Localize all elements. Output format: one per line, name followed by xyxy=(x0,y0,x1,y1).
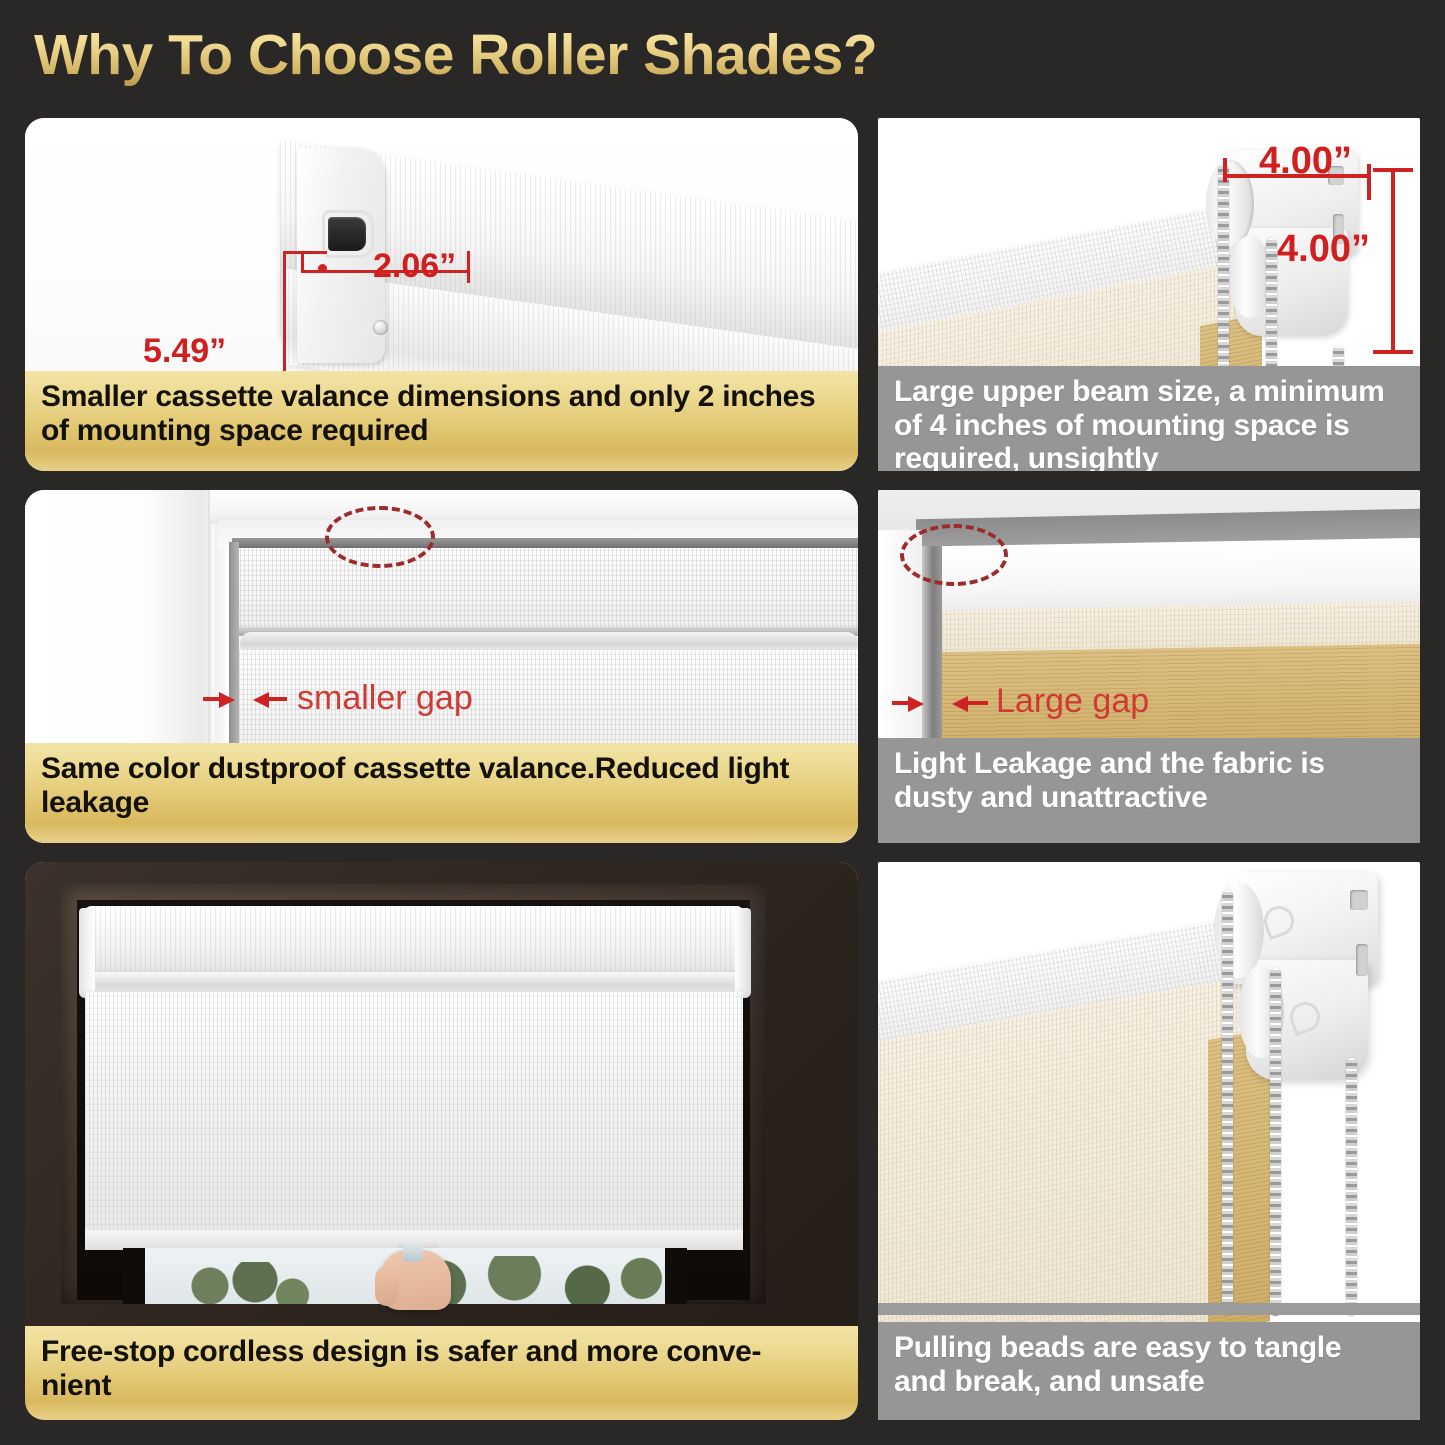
height-dimension-tick-top xyxy=(283,251,327,254)
infographic-page: Why To Choose Roller Shades? 2.06” xyxy=(0,0,1445,1445)
beam-width-tick-left xyxy=(1223,158,1227,182)
beam-width-label: 4.00” xyxy=(1259,140,1352,183)
cassette-end-left xyxy=(79,908,95,998)
cassette-end-right xyxy=(735,908,751,998)
beam-height-line xyxy=(1391,168,1395,354)
window-casing-edge xyxy=(208,490,214,765)
caption-text: Light Leakage and the fabric is dusty an… xyxy=(894,747,1406,814)
caption-text-line2: and break, and unsafe xyxy=(894,1365,1406,1399)
bead-chain-right xyxy=(1346,1058,1357,1316)
caption-free-stop-cordless: Free-stop cordless design is safer and m… xyxy=(25,1326,858,1420)
beam-width-tick-right xyxy=(1367,164,1371,200)
width-dimension-tick-left xyxy=(301,251,304,273)
gap-arrow-left-stem xyxy=(203,697,221,701)
shade-fabric-main xyxy=(85,992,743,1237)
caption-light-leakage: Light Leakage and the fabric is dusty an… xyxy=(878,738,1420,843)
window-casing-left xyxy=(25,490,225,765)
cassette-headrail xyxy=(85,906,743,978)
page-title: Why To Choose Roller Shades? xyxy=(34,22,877,88)
highlight-ellipse-top-gap xyxy=(325,506,435,568)
gap-arrow-left-stem xyxy=(892,701,910,705)
gap-arrow-right-stem xyxy=(968,701,988,705)
gap-arrow-right-stem xyxy=(269,697,287,701)
floor-strip xyxy=(878,1303,1420,1315)
bracket-slot-rim xyxy=(322,210,374,258)
caption-pulling-beads: Pulling beads are easy to tangle and bre… xyxy=(878,1322,1420,1420)
caption-dustproof-cassette-valance: Same color dustproof cassette valance.Re… xyxy=(25,743,858,843)
gap-arrow-left xyxy=(219,692,235,708)
large-gap-label: Large gap xyxy=(996,682,1149,721)
gap-arrow-right xyxy=(253,692,269,708)
bracket-slot-upper xyxy=(1350,890,1368,910)
beam-height-label: 4.00” xyxy=(1277,228,1370,271)
shade-fabric-upper xyxy=(232,548,858,631)
tree-foliage-left xyxy=(165,1262,315,1304)
panel-large-upper-beam: 4.00” 4.00” Large upper beam size, a min… xyxy=(878,118,1420,471)
bracket-slot-lower xyxy=(1356,944,1368,976)
caption-text-line2: nient xyxy=(41,1369,844,1403)
panel-pulling-beads: Pulling beads are easy to tangle and bre… xyxy=(878,862,1420,1420)
window-casing-top xyxy=(210,490,858,524)
width-dimension-label: 2.06” xyxy=(373,247,456,286)
caption-cassette-valance-dimensions: Smaller cassette valance dimensions and … xyxy=(25,371,858,471)
window-mullion-left xyxy=(123,1248,145,1304)
height-dimension-label: 5.49” xyxy=(143,332,226,371)
gap-arrow-left xyxy=(908,696,924,712)
hand-grip-tab xyxy=(403,1244,423,1262)
panel-free-stop-cordless: Free-stop cordless design is safer and m… xyxy=(25,862,858,1420)
panel-light-leakage: Large gap Light Leakage and the fabric i… xyxy=(878,490,1420,843)
width-dimension-tick-right xyxy=(467,251,470,283)
caption-large-upper-beam: Large upper beam size, a minimum of 4 in… xyxy=(878,366,1420,471)
screw-icon xyxy=(373,320,388,335)
caption-text-line1: Pulling beads are easy to tangle xyxy=(894,1331,1406,1365)
panel-cassette-valance-dimensions: 2.06” 5.49” Smaller cassette valance dim… xyxy=(25,118,858,471)
caption-text: Same color dustproof cassette valance.Re… xyxy=(41,752,844,819)
bead-chain-left xyxy=(1222,890,1233,1315)
gap-arrow-right xyxy=(952,696,968,712)
hand-thumb xyxy=(375,1266,399,1306)
window-mullion-right xyxy=(665,1248,687,1304)
caption-text: Large upper beam size, a minimum of 4 in… xyxy=(894,375,1406,471)
caption-text: Smaller cassette valance dimensions and … xyxy=(41,380,844,447)
smaller-gap-label: smaller gap xyxy=(297,679,473,718)
highlight-ellipse xyxy=(900,524,1008,586)
caption-text-line1: Free-stop cordless design is safer and m… xyxy=(41,1335,844,1369)
gap-shadow xyxy=(229,542,239,765)
bead-chain-middle xyxy=(1270,968,1281,1316)
beam-height-tick-top xyxy=(1373,168,1413,172)
panel-dustproof-cassette-valance: smaller gap Same color dustproof cassett… xyxy=(25,490,858,843)
beam-height-tick-bottom xyxy=(1373,350,1413,354)
cassette-lip xyxy=(85,972,743,994)
